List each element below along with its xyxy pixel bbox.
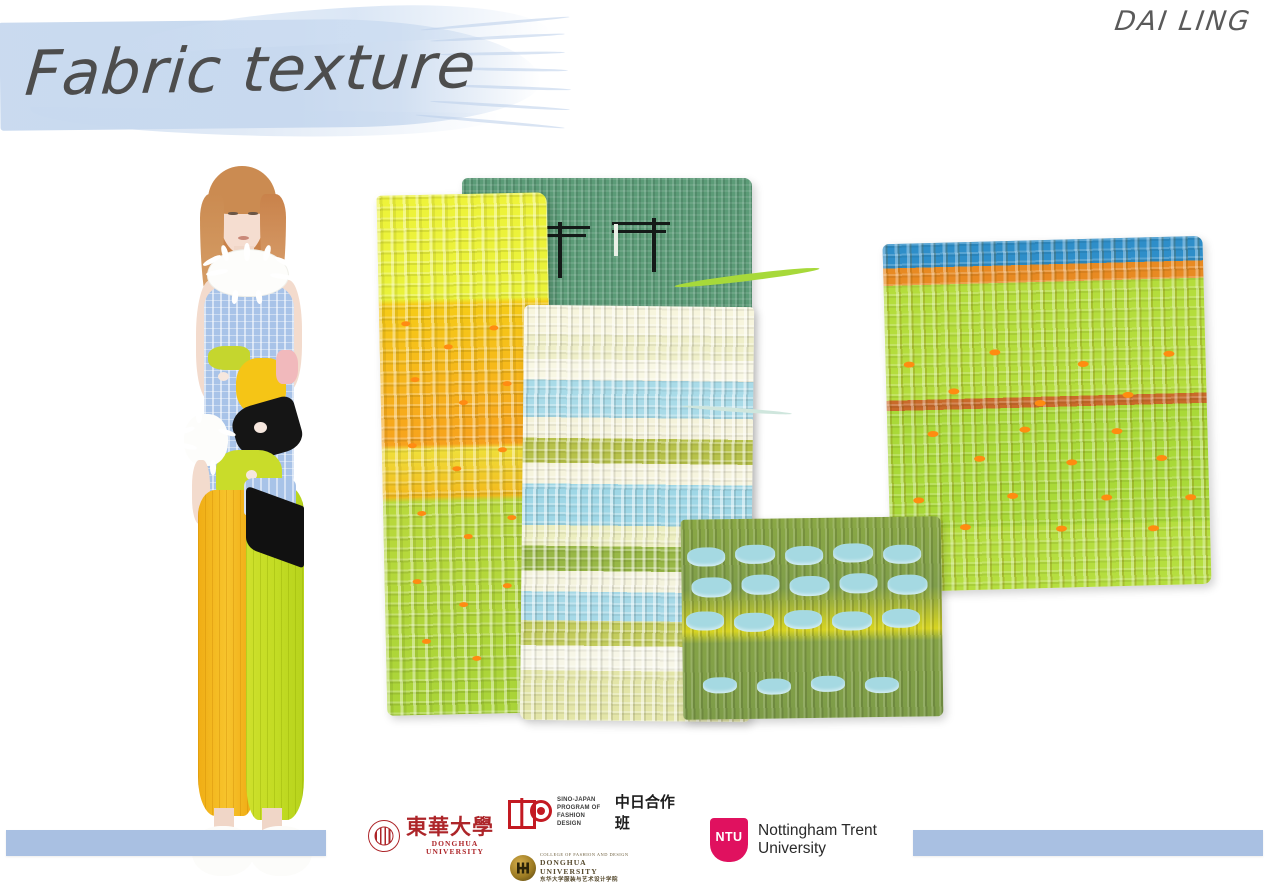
sino-japan-mark-icon [508, 799, 552, 825]
model-lips [238, 236, 249, 240]
author-name: DAI LING [1113, 6, 1253, 37]
page-title: Fabric texture [22, 29, 479, 110]
sino-japan-label-cn: 中日合作班 [615, 791, 688, 833]
fashion-illustration-model [150, 160, 340, 770]
college-seal-icon [510, 855, 536, 881]
garment-cutout [218, 372, 229, 381]
garment-cutout [254, 422, 267, 433]
ntu-name: Nottingham Trent University [758, 822, 877, 859]
model-eye [228, 212, 238, 215]
college-line-3: 东华大学服装与艺术设计学院 [540, 877, 636, 884]
model-eye [248, 212, 258, 215]
footer-bar-left [6, 830, 326, 856]
garment-patch-pink [276, 350, 298, 384]
garment-fur-collar [208, 250, 288, 296]
garment-fur-cuff [184, 414, 228, 466]
donghua-name-cn: 東華大學 [406, 817, 504, 838]
swatch-olive-blue-bubble [681, 516, 944, 720]
ntu-abbr: NTU [716, 830, 743, 844]
donghua-seal-icon [368, 820, 400, 852]
footer-bar-right [913, 830, 1263, 856]
logo-college-of-fashion-and-design: COLLEGE OF FASHION AND DESIGN DONGHUA UN… [510, 848, 636, 888]
ntu-shield-icon: NTU [710, 818, 748, 862]
logo-donghua-university: 東華大學 DONGHUA UNIVERSITY [368, 813, 504, 859]
banner-brush-highlight-bottom [30, 107, 500, 140]
logo-nottingham-trent-university: NTU Nottingham Trent University [710, 816, 910, 864]
college-line-2: DONGHUA UNIVERSITY [540, 858, 636, 877]
logo-sino-japan-program: SINO-JAPAN PROGRAM OF FASHION DESIGN 中日合… [508, 795, 688, 829]
donghua-name-en: DONGHUA UNIVERSITY [406, 840, 504, 855]
sino-japan-label-en: SINO-JAPAN PROGRAM OF FASHION DESIGN [557, 796, 610, 828]
fabric-swatch-collage [382, 178, 1210, 723]
